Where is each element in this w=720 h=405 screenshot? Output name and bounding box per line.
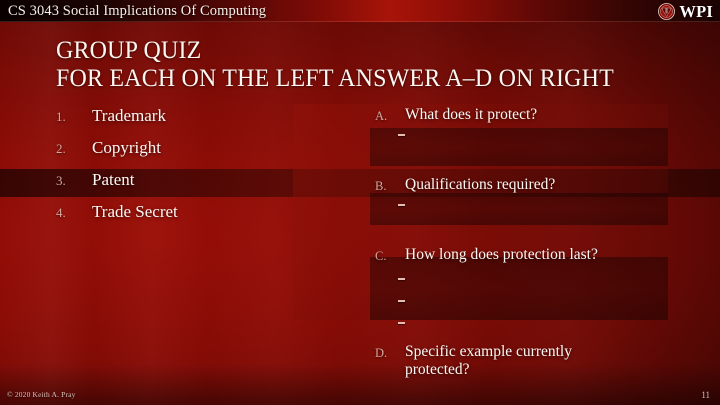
wpi-seal-icon bbox=[658, 3, 675, 20]
question-group-d: D. Specific example currently protected? bbox=[375, 343, 685, 379]
question-marker: B. bbox=[375, 176, 405, 196]
slide-canvas: CS 3043 Social Implications Of Computing… bbox=[0, 0, 720, 405]
question-group-b: B. Qualifications required? bbox=[375, 176, 685, 246]
question-label: What does it protect? bbox=[405, 106, 537, 124]
wpi-logo: WPI bbox=[658, 1, 713, 21]
wpi-wordmark: WPI bbox=[679, 3, 713, 20]
page-title-line-1: GROUP QUIZ bbox=[56, 36, 658, 64]
question-item[interactable]: A. What does it protect? bbox=[375, 106, 685, 128]
page-number: 11 bbox=[701, 390, 710, 400]
question-item[interactable]: D. Specific example currently protected? bbox=[375, 343, 685, 379]
list-item-label: Trade Secret bbox=[92, 202, 178, 222]
list-item-marker: 4. bbox=[56, 205, 92, 221]
page-title-line-2: FOR EACH ON THE LEFT ANSWER A–D ON RIGHT bbox=[56, 64, 658, 92]
header-bar: CS 3043 Social Implications Of Computing… bbox=[0, 0, 720, 22]
page-title: GROUP QUIZ FOR EACH ON THE LEFT ANSWER A… bbox=[56, 36, 658, 91]
dash-bullet-icon bbox=[398, 278, 405, 280]
sub-bullet bbox=[375, 290, 685, 312]
sub-bullet bbox=[375, 268, 685, 290]
sub-bullets-a bbox=[375, 128, 685, 176]
course-title: CS 3043 Social Implications Of Computing bbox=[8, 2, 266, 21]
question-label: Qualifications required? bbox=[405, 176, 555, 194]
list-item-label: Copyright bbox=[92, 138, 161, 158]
question-item[interactable]: B. Qualifications required? bbox=[375, 176, 685, 198]
question-marker: D. bbox=[375, 343, 405, 363]
list-item[interactable]: 4. Trade Secret bbox=[56, 202, 286, 234]
sub-bullet bbox=[375, 312, 685, 334]
question-marker: C. bbox=[375, 246, 405, 266]
list-item-marker: 1. bbox=[56, 109, 92, 125]
footer-copyright: © 2020 Keith A. Pray bbox=[7, 390, 76, 399]
list-item[interactable]: 1. Trademark bbox=[56, 106, 286, 138]
questions-list: A. What does it protect? B. Qualificatio… bbox=[375, 106, 685, 379]
dash-bullet-icon bbox=[398, 204, 405, 206]
sub-bullets-c bbox=[375, 268, 685, 334]
list-item-highlighted[interactable]: 3. Patent bbox=[56, 170, 286, 202]
question-group-a: A. What does it protect? bbox=[375, 106, 685, 176]
list-item-label: Trademark bbox=[92, 106, 166, 126]
dash-bullet-icon bbox=[398, 300, 405, 302]
terms-list: 1. Trademark 2. Copyright 3. Patent 4. T… bbox=[56, 106, 286, 234]
list-item[interactable]: 2. Copyright bbox=[56, 138, 286, 170]
question-group-c: C. How long does protection last? bbox=[375, 246, 685, 334]
sub-bullets-b bbox=[375, 198, 685, 246]
question-label: Specific example currently protected? bbox=[405, 343, 623, 379]
question-item[interactable]: C. How long does protection last? bbox=[375, 246, 685, 268]
question-label: How long does protection last? bbox=[405, 246, 598, 264]
list-item-label: Patent bbox=[92, 170, 135, 190]
list-item-marker: 3. bbox=[56, 173, 92, 189]
sub-bullet bbox=[375, 198, 685, 246]
dash-bullet-icon bbox=[398, 134, 405, 136]
list-item-marker: 2. bbox=[56, 141, 92, 157]
sub-bullet bbox=[375, 128, 685, 176]
question-marker: A. bbox=[375, 106, 405, 126]
dash-bullet-icon bbox=[398, 322, 405, 324]
